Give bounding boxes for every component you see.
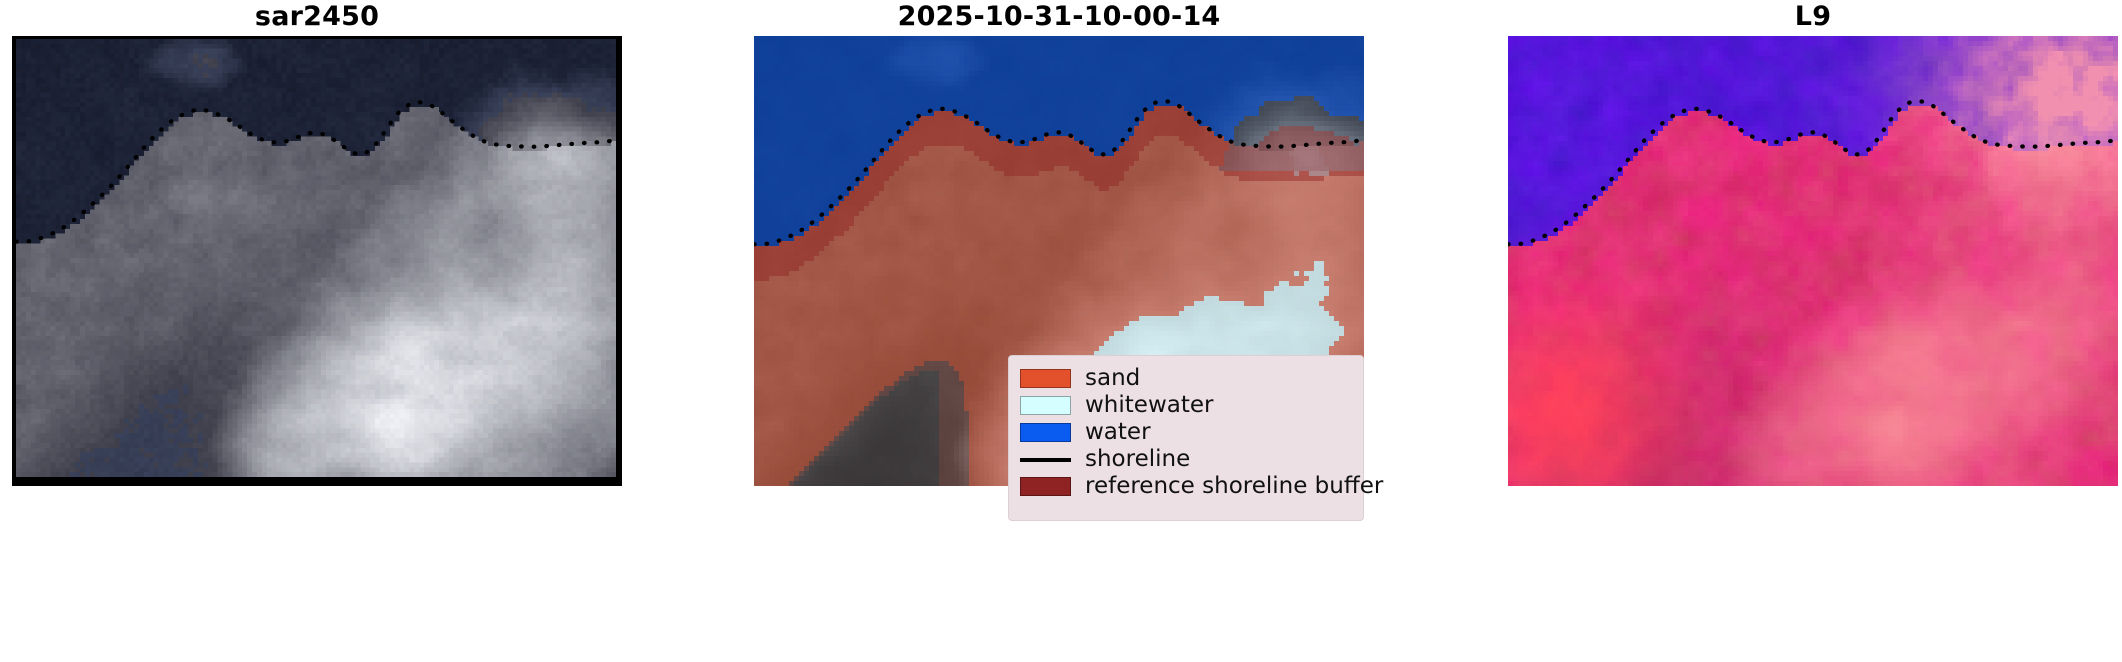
legend-row[interactable]: whitewater xyxy=(1020,392,1352,419)
panel-classification: 2025-10-31-10-00-14 xyxy=(754,0,1364,662)
image-axes-sar2450[interactable] xyxy=(12,36,622,486)
panel-title-timestamp: 2025-10-31-10-00-14 xyxy=(754,2,1364,32)
legend-label: sand xyxy=(1085,365,1140,392)
legend-swatch-reference-shoreline-buffer xyxy=(1020,477,1071,496)
image-axes-l9[interactable] xyxy=(1508,36,2118,486)
legend-label: whitewater xyxy=(1085,392,1213,419)
l9-raster-image[interactable] xyxy=(1508,36,2118,486)
legend-swatch-water xyxy=(1020,423,1071,442)
panel-sar2450: sar2450 xyxy=(12,0,622,662)
panel-title-sar2450: sar2450 xyxy=(12,2,622,32)
legend-row[interactable]: sand xyxy=(1020,365,1352,392)
legend-label: water xyxy=(1085,419,1151,446)
panel-title-l9: L9 xyxy=(1508,2,2118,32)
legend-row[interactable]: reference shoreline buffer xyxy=(1020,473,1352,500)
sar-raster-image[interactable] xyxy=(16,39,616,477)
legend-row[interactable]: water xyxy=(1020,419,1352,446)
legend-swatch-whitewater xyxy=(1020,396,1071,415)
panel-l9: L9 xyxy=(1508,0,2118,662)
legend-label: reference shoreline buffer xyxy=(1085,473,1383,500)
legend-swatch-sand xyxy=(1020,369,1071,388)
legend-label: shoreline xyxy=(1085,446,1190,473)
legend-line-shoreline xyxy=(1020,458,1071,462)
legend-row[interactable]: shoreline xyxy=(1020,446,1352,473)
figure-canvas: sar2450 2025-10-31-10-00-14 L9 sandwhite… xyxy=(0,0,2122,662)
legend-box[interactable]: sandwhitewaterwatershorelinereference sh… xyxy=(1008,355,1364,521)
